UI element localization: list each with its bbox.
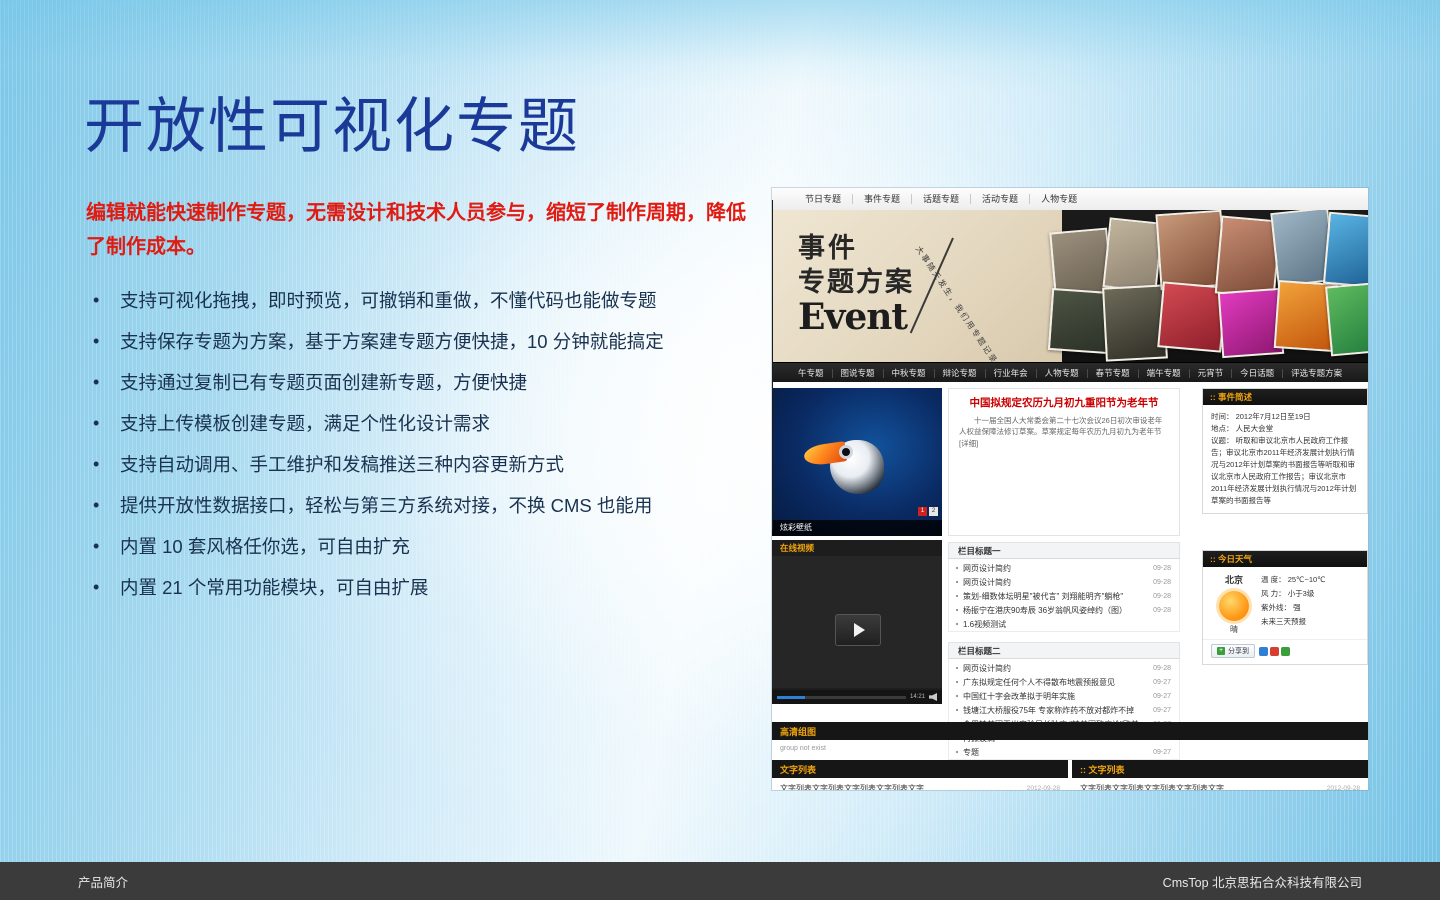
text-list-left-items: 文字列表文字列表文字列表文字列表文字2012-09-28 [772,778,1068,790]
bullet-marker: • [93,485,99,526]
video-panel-header: 在线视频 [772,540,942,556]
list-item[interactable]: 网页设计简约09-28 [949,661,1179,675]
weather-panel: :: 今日天气 北京 晴 温 度： 25℃~10℃ 风 力： 小于3级 紫外线：… [1202,550,1368,665]
sun-icon [1219,591,1249,621]
list-item-label[interactable]: 策划-细数体坛明星"被代言" 刘翔能明齐"躺枪" [963,591,1149,602]
list-item-label: 内置 10 套风格任你选，可自由扩充 [120,536,410,557]
volume-icon[interactable] [929,693,937,701]
weather-temperature-value: 25℃~10℃ [1288,575,1326,584]
video-progress-slider[interactable] [777,696,906,699]
list-panel-1-header: 栏目标题一 [948,542,1180,559]
share-button[interactable]: + 分享到 [1211,644,1255,658]
list-item: •支持上传模板创建专题，满足个性化设计需求 [86,403,766,444]
list-item[interactable]: 钱塘江大桥服役75年 专家称炸药不放对都炸不掉09-27 [949,703,1179,717]
list-item: •内置 21 个常用功能模块，可自由扩展 [86,567,766,608]
list-item-date: 09-27 [1153,679,1171,686]
site-body: 1 2 炫彩壁纸 中国拟规定农历九月初九重阳节为老年节 十一届全国人大常委会第二… [772,382,1368,790]
list-item[interactable]: 文字列表文字列表文字列表文字列表文字2012-09-28 [1080,782,1360,790]
weather-uv-label: 紫外线： [1261,603,1291,612]
topnav-item-0[interactable]: 节日专题 [794,194,853,204]
list-item-label: 支持通过复制已有专题页面创建新专题，方便快捷 [120,372,527,393]
subnav-item-8[interactable]: 元宵节 [1190,369,1233,378]
event-summary-header: :: 事件简述 [1203,389,1367,405]
text-list-left-title: 文字列表 [780,763,816,776]
text-list-right-header: :: 文字列表 [1072,760,1368,778]
play-icon[interactable] [835,614,881,646]
list-item-label: 内置 21 个常用功能模块，可自由扩展 [120,577,428,598]
list-item[interactable]: 广东拟规定任何个人不得散布地震预报意见09-27 [949,675,1179,689]
list-item[interactable]: 网页设计简约09-28 [949,561,1179,575]
event-time-row: 时间： 2012年7月12日至19日 [1211,411,1359,423]
editor-toolbar[interactable]: 🔥 ▶ ▤ ◉ ◆ ▦ ✛ ✻ ✚ [772,200,773,530]
weather-title: :: 今日天气 [1210,553,1252,565]
list-panel-1-items: 网页设计简约09-28 网页设计简约09-28 策划-细数体坛明星"被代言" 刘… [948,559,1180,632]
weather-temperature-label: 温 度： [1261,575,1286,584]
list-item-label: 支持自动调用、手工维护和发稿推送三种内容更新方式 [120,454,564,475]
weather-city: 北京 [1211,573,1257,586]
list-item-date: 09-27 [1153,707,1171,714]
bullet-icon [956,667,958,669]
list-item: •支持保存专题为方案，基于方案建专题方便快捷，10 分钟就能搞定 [86,321,766,362]
list-item[interactable]: 网页设计简约09-28 [949,575,1179,589]
page-title: 开放性可视化专题 [84,96,580,159]
bullet-icon [956,695,958,697]
slide-footer: 产品简介 CmsTop 北京思拓合众科技有限公司 [0,862,1440,900]
list-panel-1-title: 栏目标题一 [958,545,1001,557]
event-summary-panel: :: 事件简述 时间： 2012年7月12日至19日 地点： 人民大会堂 议题：… [1202,388,1368,514]
event-summary-body: 时间： 2012年7月12日至19日 地点： 人民大会堂 议题： 听取和审议北京… [1203,405,1367,513]
subnav-item-3[interactable]: 辩论专题 [935,369,986,378]
list-item[interactable]: 1.6视频测试 [949,617,1179,631]
list-item-date: 09-28 [1153,665,1171,672]
text-list-left-header: 文字列表 [772,760,1068,778]
list-item-label[interactable]: 文字列表文字列表文字列表文字列表文字 [1080,783,1327,790]
weather-forecast-link[interactable]: 未来三天预报 [1261,615,1359,629]
list-item: •支持通过复制已有专题页面创建新专题，方便快捷 [86,362,766,403]
list-item: •支持可视化拖拽，即时预览，可撤销和重做，不懂代码也能做专题 [86,280,766,321]
topnav-item-2[interactable]: 话题专题 [912,194,971,204]
focus-image-block[interactable]: 1 2 炫彩壁纸 [772,388,942,536]
share-icon-green[interactable] [1281,647,1290,656]
list-item[interactable]: 杨振宁在港庆90寿辰 36岁翁帆风姿绰约（图）09-28 [949,603,1179,617]
list-item-date: 2012-09-28 [1027,785,1060,790]
list-item-label[interactable]: 广东拟规定任何个人不得散布地震预报意见 [963,677,1149,688]
list-item-date: 2012-09-28 [1327,785,1360,790]
list-item: •支持自动调用、手工维护和发稿推送三种内容更新方式 [86,444,766,485]
list-item: •内置 10 套风格任你选，可自由扩充 [86,526,766,567]
site-top-nav[interactable]: 节日专题 事件专题 话题专题 活动专题 人物专题 [772,188,1368,211]
video-time: 14:21 [910,694,925,700]
topnav-item-4[interactable]: 人物专题 [1030,194,1088,204]
bullet-marker: • [93,526,99,567]
list-item-label: 支持可视化拖拽，即时预览，可撤销和重做，不懂代码也能做专题 [120,290,657,311]
subnav-item-0[interactable]: 午专题 [790,369,833,378]
focus-pager[interactable]: 1 2 [918,507,938,516]
bullet-marker: • [93,321,99,362]
focus-page-2[interactable]: 2 [929,507,938,516]
share-bar[interactable]: + 分享到 [1203,639,1367,664]
text-list-right-items: 文字列表文字列表文字列表文字列表文字2012-09-28 [1072,778,1368,790]
subnav-item-2[interactable]: 中秋专题 [884,369,935,378]
topnav-item-1[interactable]: 事件专题 [853,194,912,204]
gallery-header: 高清组图 [772,722,1368,740]
bullet-icon [956,681,958,683]
event-agenda-row: 议题： 听取和审议北京市人民政府工作报告；审议北京市2011年经济发展计划执行情… [1211,435,1359,507]
text-list-left: 文字列表 文字列表文字列表文字列表文字列表文字2012-09-28 [772,760,1068,790]
subnav-item-7[interactable]: 端午专题 [1139,369,1190,378]
list-item-label[interactable]: 钱塘江大桥服役75年 专家称炸药不放对都炸不掉 [963,705,1149,716]
list-item-label: 提供开放性数据接口，轻松与第三方系统对接，不换 CMS 也能用 [120,495,652,516]
video-panel-title: 在线视频 [780,542,814,554]
banner-line-3: Event [798,296,907,338]
weather-temperature-row: 温 度： 25℃~10℃ [1261,573,1359,587]
list-item-label[interactable]: 网页设计简约 [963,663,1149,674]
bullet-icon [956,623,958,625]
bullet-icon [956,581,958,583]
bullet-marker: • [93,444,99,485]
lede-paragraph: 编辑就能快速制作专题，无需设计和技术人员参与，缩短了制作周期，降低了制作成本。 [86,196,746,265]
bullet-marker: • [93,280,99,321]
news-highlight: 中国拟规定农历九月初九重阳节为老年节 十一届全国人大常委会第二十七次会议26日初… [948,388,1180,536]
list-item-label[interactable]: 1.6视频测试 [963,619,1167,630]
list-item-label: 支持上传模板创建专题，满足个性化设计需求 [120,413,490,434]
focus-page-1[interactable]: 1 [918,507,927,516]
list-item-date: 09-28 [1153,593,1171,600]
video-player[interactable]: 14:21 [772,556,942,704]
list-panel-1: 栏目标题一 网页设计简约09-28 网页设计简约09-28 策划-细数体坛明星"… [948,542,1180,632]
list-item-label[interactable]: 中国红十字会改革拟于明年实施 [963,691,1149,702]
subnav-item-1[interactable]: 图说专题 [833,369,884,378]
bullet-icon [956,709,958,711]
share-label: 分享到 [1228,646,1249,656]
subnav-item-4[interactable]: 行业年会 [986,369,1037,378]
list-item-date: 09-27 [1153,693,1171,700]
bullet-icon [956,595,958,597]
bullet-icon [956,609,958,611]
subnav-item-10[interactable]: 评选专题方案 [1283,369,1350,378]
event-place-row: 地点： 人民大会堂 [1211,423,1359,435]
bullet-icon [956,567,958,569]
weather-wind-value: 小于3级 [1288,589,1315,598]
weather-uv-value: 强 [1293,603,1301,612]
weather-uv-row: 紫外线： 强 [1261,601,1359,615]
bullet-marker: • [93,403,99,444]
banner-title-block: 事件 专题方案 Event 大事随天发生，我们用专题记录 [772,210,1062,362]
bullet-marker: • [93,362,99,403]
subnav-item-6[interactable]: 春节专题 [1088,369,1139,378]
banner-line-2: 专题方案 [798,260,914,299]
weather-wind-label: 风 力： [1261,589,1286,598]
share-icons[interactable] [1259,647,1290,656]
site-banner: 事件 专题方案 Event 大事随天发生，我们用专题记录 [772,210,1368,362]
subnav-item-5[interactable]: 人物专题 [1037,369,1088,378]
list-item-label[interactable]: 杨振宁在港庆90寿辰 36岁翁帆风姿绰约（图） [963,605,1149,616]
list-item[interactable]: 文字列表文字列表文字列表文字列表文字2012-09-28 [780,782,1060,790]
weather-body: 北京 晴 温 度： 25℃~10℃ 风 力： 小于3级 紫外线： 强 未来三天预… [1203,567,1367,639]
footer-right-label: CmsTop 北京思拓合众科技有限公司 [1163,872,1362,891]
video-panel: 在线视频 14:21 [772,540,942,704]
weather-header: :: 今日天气 [1203,551,1367,567]
list-item-date: 09-28 [1153,607,1171,614]
list-item[interactable]: 策划-细数体坛明星"被代言" 刘翔能明齐"躺枪"09-28 [949,589,1179,603]
list-panel-2-title: 栏目标题二 [958,645,1001,657]
gallery-empty-message: group not exist [772,740,1368,757]
list-item-date: 09-28 [1153,565,1171,572]
list-item-label[interactable]: 网页设计简约 [963,563,1149,574]
list-item-label: 支持保存专题为方案，基于方案建专题方便快捷，10 分钟就能搞定 [120,331,664,352]
gallery-panel: 高清组图 group not exist [772,722,1368,757]
list-item[interactable]: 中国红十字会改革拟于明年实施09-27 [949,689,1179,703]
text-list-right: :: 文字列表 文字列表文字列表文字列表文字列表文字2012-09-28 [1072,760,1368,790]
topnav-item-3[interactable]: 活动专题 [971,194,1030,204]
banner-photo-collage [1048,210,1368,362]
bullet-marker: • [93,567,99,608]
video-controls[interactable]: 14:21 [772,690,942,704]
list-panel-2-header: 栏目标题二 [948,642,1180,659]
plus-icon: + [1217,647,1225,655]
site-sub-nav[interactable]: 午专题 图说专题 中秋专题 辩论专题 行业年会 人物专题 春节专题 端午专题 元… [772,362,1368,383]
list-item-date: 09-28 [1153,579,1171,586]
news-summary: 十一届全国人大常委会第二十七次会议26日初次审设老年人权益保障法修订草案。草案规… [959,415,1169,450]
share-icon-blue[interactable] [1259,647,1268,656]
event-summary-title: :: 事件简述 [1210,391,1252,403]
text-list-right-title: :: 文字列表 [1080,763,1125,776]
weather-wind-row: 风 力： 小于3级 [1261,587,1359,601]
share-icon-red[interactable] [1270,647,1279,656]
focus-caption: 炫彩壁纸 [772,520,942,536]
product-screenshot: 🔥 ▶ ▤ ◉ ◆ ▦ ✛ ✻ ✚ 节日专题 事件专题 话题专题 活动专题 人物… [772,188,1368,790]
list-item-label[interactable]: 文字列表文字列表文字列表文字列表文字 [780,783,1027,790]
news-headline[interactable]: 中国拟规定农历九月初九重阳节为老年节 [959,397,1169,410]
list-item-label[interactable]: 网页设计简约 [963,577,1149,588]
banner-subtitle: 大事随天发生，我们用专题记录 [913,244,984,341]
weather-condition: 晴 [1211,624,1257,635]
gallery-title: 高清组图 [780,725,816,738]
subnav-item-9[interactable]: 今日话题 [1232,369,1283,378]
footer-left-label: 产品简介 [78,872,128,891]
slide-root: 开放性可视化专题 编辑就能快速制作专题，无需设计和技术人员参与，缩短了制作周期，… [0,0,1440,900]
feature-bullet-list: •支持可视化拖拽，即时预览，可撤销和重做，不懂代码也能做专题 •支持保存专题为方… [86,280,766,608]
toucan-illustration [808,418,894,504]
list-item: •提供开放性数据接口，轻松与第三方系统对接，不换 CMS 也能用 [86,485,766,526]
